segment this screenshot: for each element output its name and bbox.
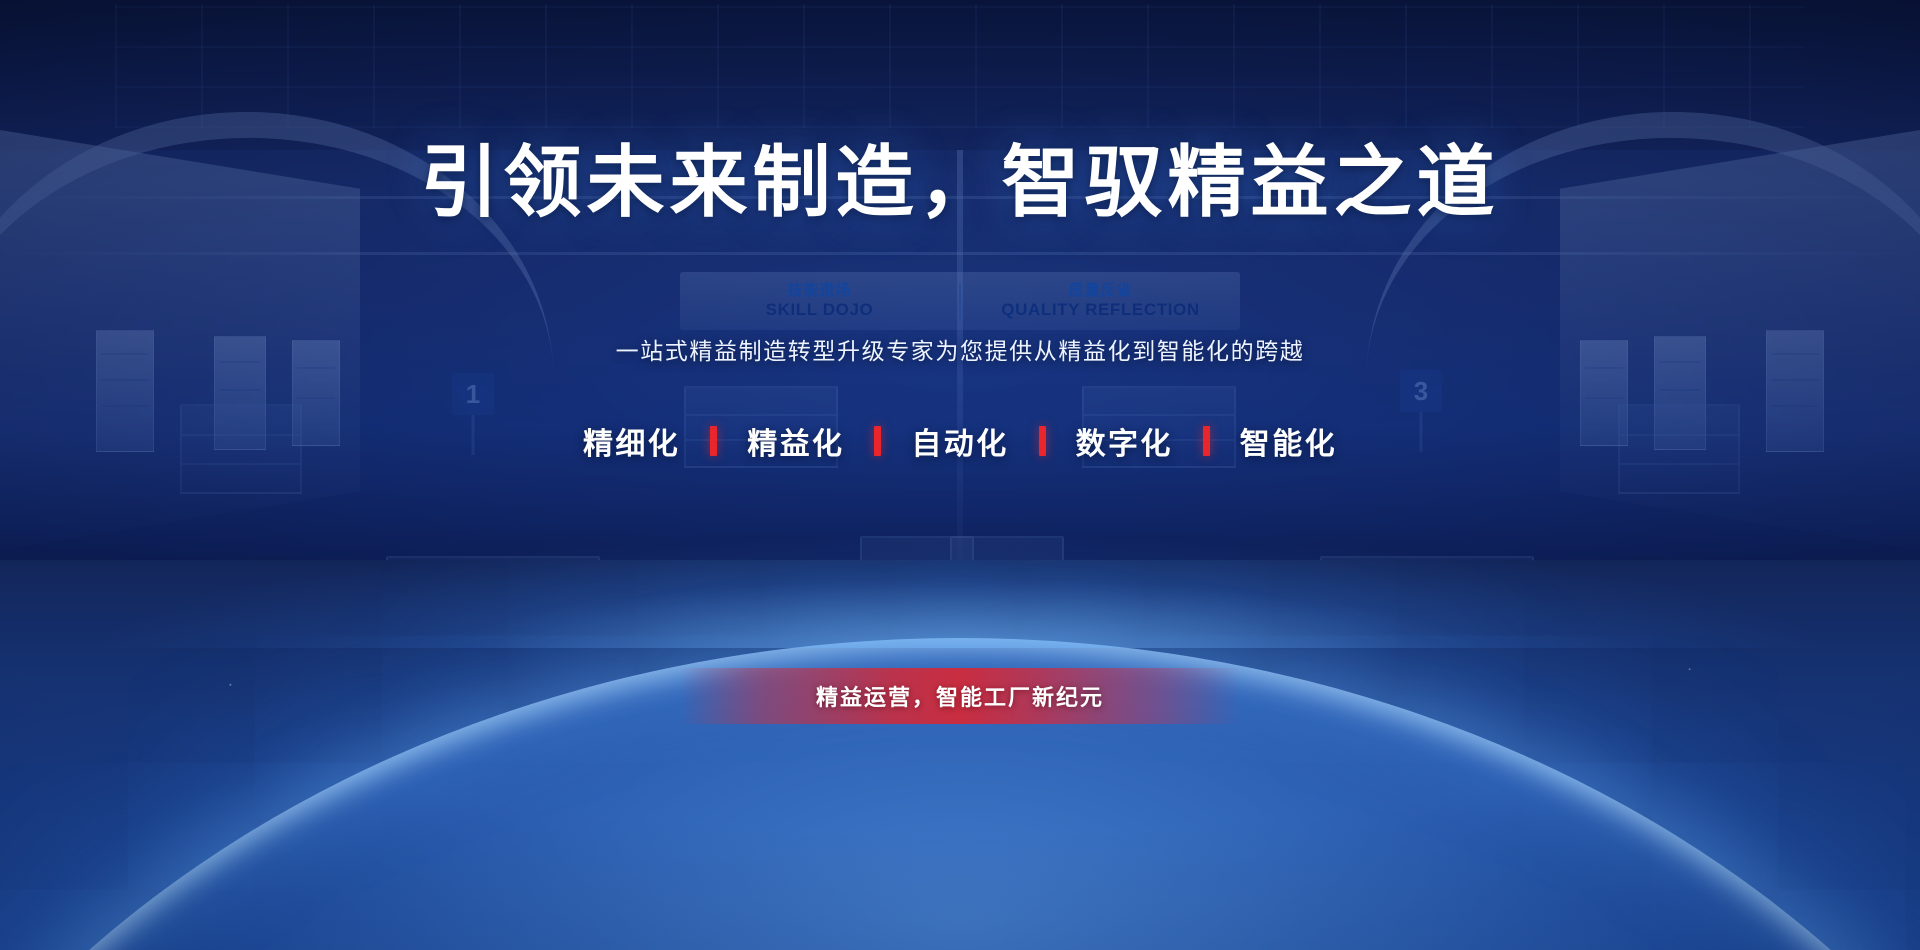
tagline-text: 精益运营，智能工厂新纪元 (816, 680, 1104, 712)
keyword-list: 精细化 精益化 自动化 数字化 智能化 (567, 419, 1353, 463)
keyword-separator-icon (874, 426, 881, 456)
hero-banner: 技能道场 SKILL DOJO 质量反省 QUALITY REFLECTION … (0, 0, 1920, 950)
keyword-separator-icon (1039, 426, 1046, 456)
banner-content: 引领未来制造，智驭精益之道 一站式精益制造转型升级专家为您提供从精益化到智能化的… (0, 0, 1920, 950)
keyword-item: 自动化 (895, 419, 1024, 463)
keyword-separator-icon (1203, 426, 1210, 456)
tagline-ribbon: 精益运营，智能工厂新纪元 (680, 668, 1240, 724)
keyword-item: 智能化 (1224, 419, 1353, 463)
keyword-separator-icon (710, 426, 717, 456)
keyword-item: 数字化 (1060, 419, 1189, 463)
keyword-item: 精益化 (731, 419, 860, 463)
keyword-item: 精细化 (567, 419, 696, 463)
page-title: 引领未来制造，智驭精益之道 (420, 142, 1499, 224)
banner-subtitle: 一站式精益制造转型升级专家为您提供从精益化到智能化的跨越 (616, 332, 1305, 366)
